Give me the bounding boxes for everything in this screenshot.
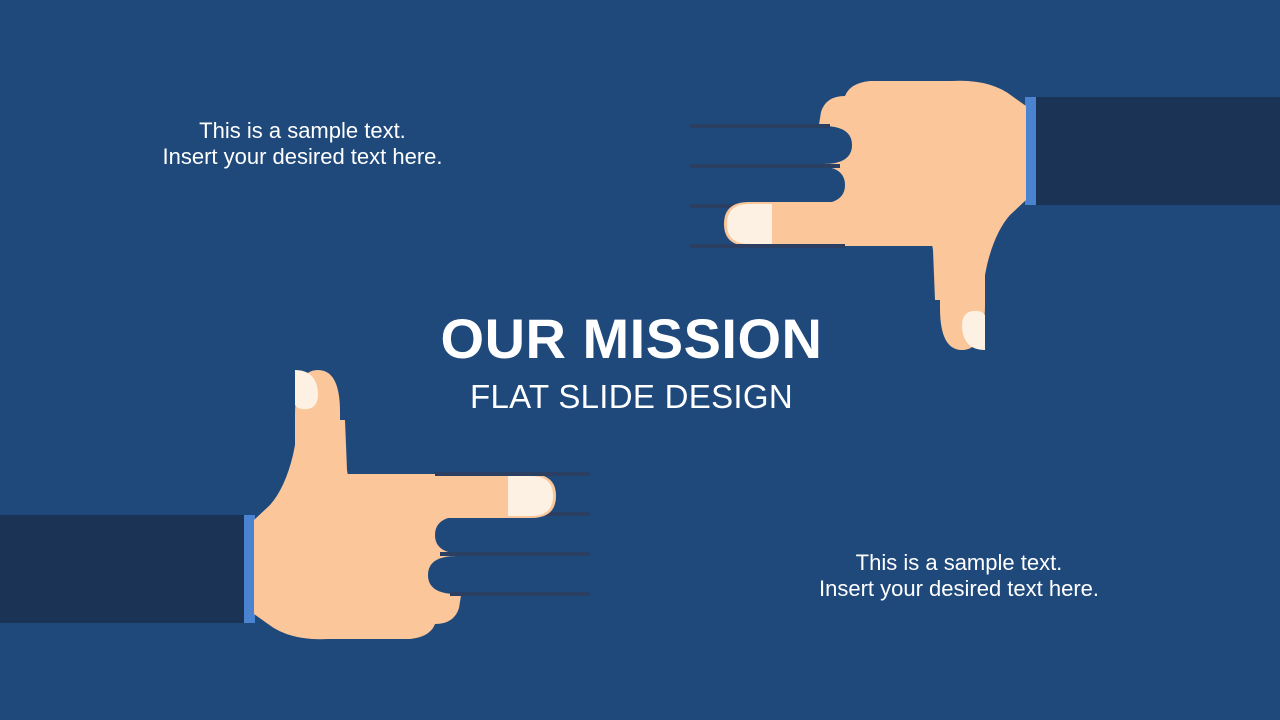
- page-subtitle: FLAT SLIDE DESIGN: [0, 377, 1263, 417]
- sleeve-shape: [1035, 97, 1280, 205]
- cuff-shape: [244, 515, 255, 623]
- page-title: OUR MISSION: [0, 308, 1263, 370]
- finger-separator-line-4: [435, 472, 590, 476]
- finger-separator-line-4: [690, 244, 845, 248]
- index-finger-nail: [727, 204, 772, 244]
- slide-canvas: This is a sample text. Insert your desir…: [0, 0, 1280, 720]
- finger-separator-line-2: [690, 164, 840, 168]
- sleeve-shape: [0, 515, 245, 623]
- finger-separator-line-2: [440, 552, 590, 556]
- finger-notch-2: [435, 516, 590, 554]
- index-finger-nail: [508, 476, 553, 516]
- finger-separator-line-1: [690, 124, 830, 128]
- caption-bottom-right-line1: This is a sample text.: [675, 550, 1243, 576]
- caption-bottom-right: This is a sample text. Insert your desir…: [675, 550, 1243, 602]
- caption-top-left-line1: This is a sample text.: [0, 118, 605, 144]
- caption-top-left: This is a sample text. Insert your desir…: [0, 118, 605, 170]
- palm-shape: [815, 81, 1026, 300]
- caption-bottom-right-line2: Insert your desired text here.: [675, 576, 1243, 602]
- caption-top-left-line2: Insert your desired text here.: [0, 144, 605, 170]
- cuff-shape: [1025, 97, 1036, 205]
- finger-notch-1: [690, 126, 852, 164]
- finger-separator-line-1: [450, 592, 590, 596]
- finger-notch-2: [690, 166, 845, 204]
- title-block: OUR MISSION FLAT SLIDE DESIGN: [0, 308, 1263, 417]
- palm-shape: [254, 420, 465, 639]
- finger-notch-1: [428, 556, 590, 594]
